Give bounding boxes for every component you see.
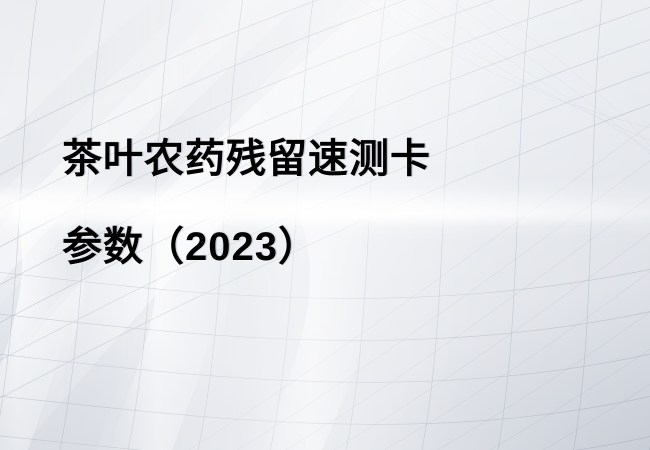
title-line-primary: 茶叶农药残留速测卡 — [62, 132, 622, 186]
title-line-secondary: 参数（2023） — [62, 220, 622, 274]
title-banner: 茶叶农药残留速测卡 参数（2023） — [0, 0, 650, 450]
page-title: 茶叶农药残留速测卡 参数（2023） — [62, 132, 622, 274]
